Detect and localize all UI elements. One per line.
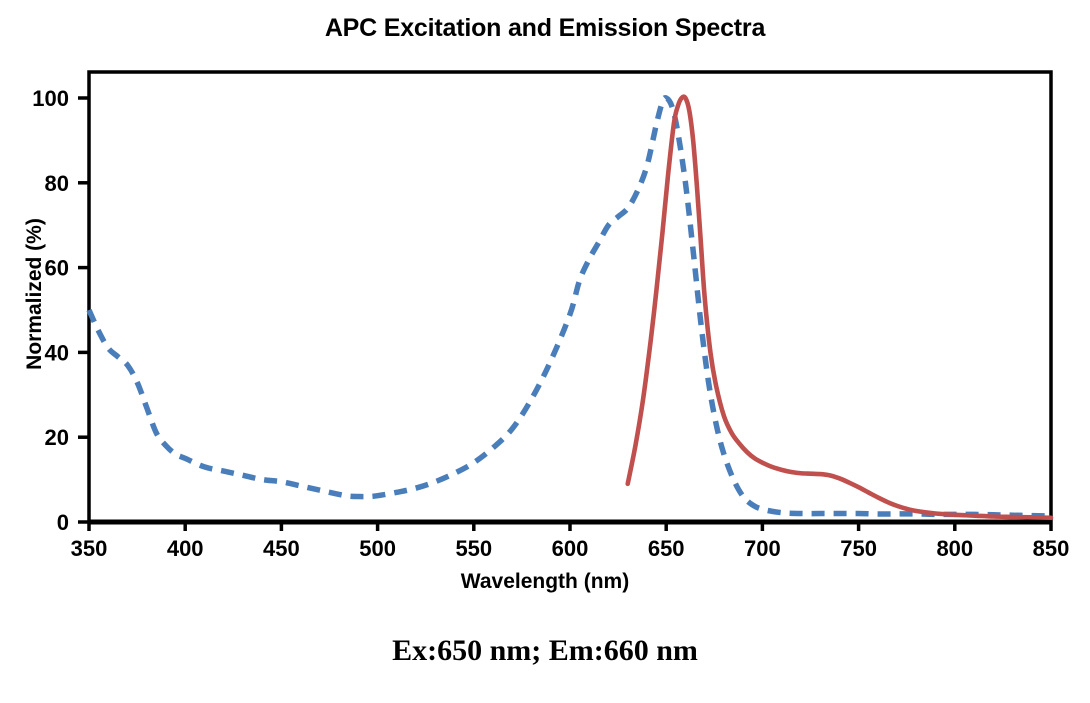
x-tick-label: 550 (455, 536, 492, 561)
y-tick-label: 100 (32, 86, 69, 111)
x-tick-label: 400 (167, 536, 204, 561)
x-tick-label: 500 (359, 536, 396, 561)
x-tick-label: 350 (71, 536, 108, 561)
plot-frame (89, 72, 1051, 522)
series-excitation-line (89, 98, 1051, 516)
series-emission-line (628, 97, 1051, 518)
x-tick-label: 700 (744, 536, 781, 561)
x-tick-label: 600 (552, 536, 589, 561)
spectra-figure: APC Excitation and Emission Spectra Norm… (0, 0, 1090, 703)
x-tick-label: 650 (648, 536, 685, 561)
y-tick-label: 60 (45, 256, 69, 281)
y-tick-label: 0 (57, 510, 69, 535)
x-tick-label: 750 (840, 536, 877, 561)
figure-caption: Ex:650 nm; Em:660 nm (0, 634, 1090, 668)
x-axis-title: Wavelength (nm) (0, 570, 1090, 594)
spectra-plot: 3504004505005506006507007508008500204060… (0, 0, 1090, 703)
x-tick-label: 450 (263, 536, 300, 561)
y-tick-label: 80 (45, 171, 69, 196)
x-tick-label: 850 (1033, 536, 1070, 561)
y-tick-label: 40 (45, 340, 69, 365)
x-tick-label: 800 (936, 536, 973, 561)
y-tick-label: 20 (45, 425, 69, 450)
